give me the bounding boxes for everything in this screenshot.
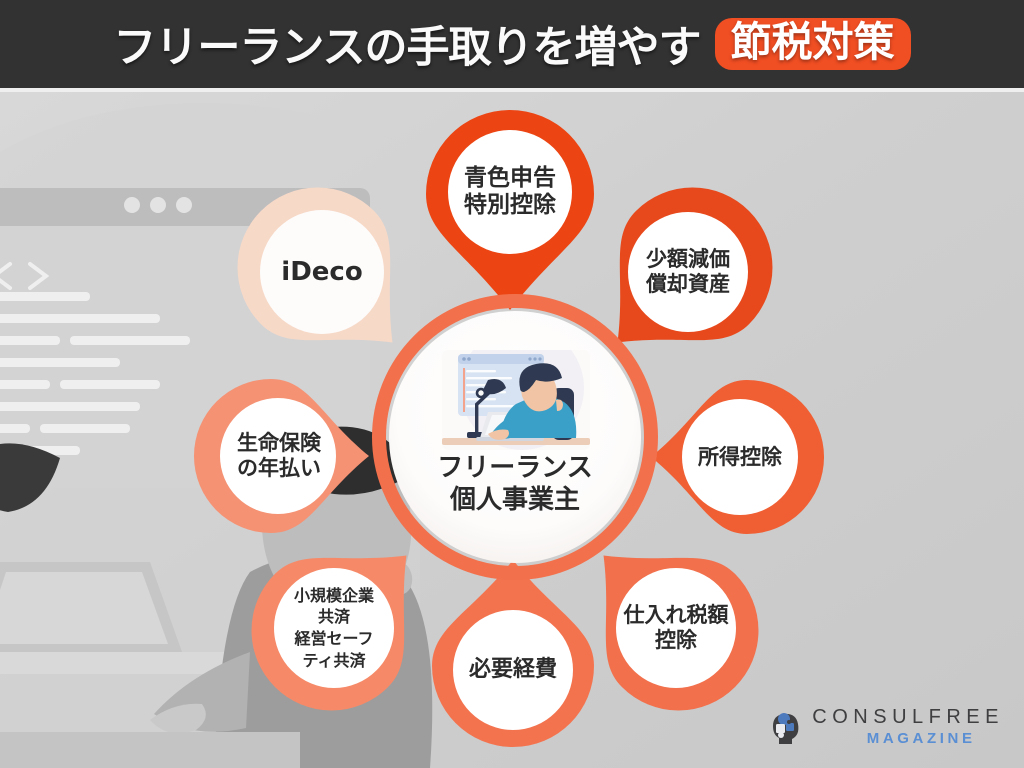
svg-text:フリーランス: フリーランス <box>437 453 592 483</box>
bubble-seimei-hoken[interactable]: 生命保険 の年払い <box>180 364 390 548</box>
infographic-canvas: フリーランスの手取りを増やす 節税対策 青色申告 特別控除 <box>0 0 1024 768</box>
bubble-seimei-pin-shape <box>180 364 390 548</box>
consulfree-logo[interactable]: CONSULFREE MAGAZINE <box>767 707 1004 746</box>
header-bar: フリーランスの手取りを増やす 節税対策 <box>0 0 1024 88</box>
tax-saving-diagram: 青色申告 特別控除 少額減価 償却資産 <box>0 92 1024 768</box>
header-badge: 節税対策 <box>715 18 911 70</box>
header-underline <box>0 88 1024 92</box>
bubble-aoiro-pin-shape <box>420 110 600 310</box>
center-node[interactable]: フリーランス 個人事業主 <box>370 292 660 582</box>
header-title: フリーランスの手取りを増やす <box>113 13 700 75</box>
bubble-aoiro-shinkoku[interactable]: 青色申告 特別控除 <box>420 110 600 310</box>
center-ring-and-illustration: フリーランス 個人事業主 <box>370 292 660 582</box>
logo-name: CONSULFREE <box>812 707 1004 727</box>
head-puzzle-icon <box>767 709 803 745</box>
svg-text:個人事業主: 個人事業主 <box>449 485 580 515</box>
logo-sub: MAGAZINE <box>838 731 1004 746</box>
